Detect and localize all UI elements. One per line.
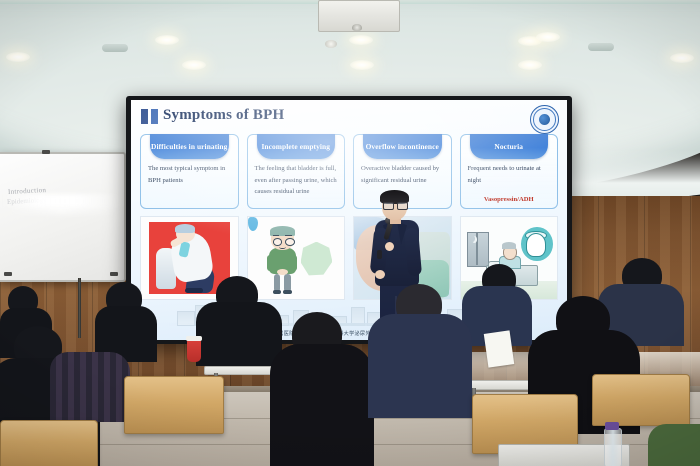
figure-hair — [502, 242, 516, 249]
whiteboard-glare — [2, 206, 122, 214]
downlight-icon — [6, 52, 30, 62]
presentation-clicker-icon — [377, 250, 382, 259]
presenter-hand — [385, 242, 394, 251]
whiteboard: Introduction Epidemiology — [0, 152, 126, 282]
figure-leg — [274, 274, 281, 292]
card-header: Nocturia — [470, 134, 549, 159]
ceiling-vent-icon — [588, 43, 614, 51]
glasses-icon — [285, 238, 295, 246]
downlight-icon — [182, 60, 206, 70]
downlight-icon — [536, 32, 560, 42]
cup-lid — [186, 336, 202, 341]
seal-core — [539, 114, 550, 125]
ceiling-vent-icon — [102, 44, 128, 52]
figure-arm — [291, 255, 297, 271]
bottle-cap — [605, 422, 619, 430]
symptom-card: Incomplete emptying The feeling that bla… — [247, 134, 346, 209]
figure-leg — [284, 274, 291, 292]
downlight-icon — [155, 35, 179, 45]
card-heading-text: Difficulties in urinating — [151, 142, 227, 151]
card-heading-text: Overflow incontinence — [366, 142, 439, 151]
smoke-detector-icon — [325, 40, 337, 48]
figure-brow — [285, 235, 292, 236]
audience-arm — [648, 424, 700, 466]
title-accent-bars — [141, 109, 158, 124]
notebook-paper — [484, 330, 514, 367]
window-bar — [476, 232, 477, 265]
downlight-icon — [518, 60, 542, 70]
card-body-text: Overactive bladder caused by significant… — [361, 163, 445, 186]
downlight-icon — [349, 35, 373, 45]
card-body-text: The feeling that bladder is full, even a… — [255, 163, 339, 198]
downlight-icon — [350, 60, 374, 70]
whiteboard-stand — [78, 278, 81, 338]
accent-bar — [151, 109, 158, 124]
green-blob — [301, 242, 333, 276]
figure-shoe — [185, 288, 202, 294]
audience-body — [196, 302, 282, 366]
slide-title: Symptoms of BPH — [163, 107, 284, 124]
figure-shoe — [283, 290, 292, 294]
university-hospital-seal-icon — [530, 105, 559, 134]
coffee-cup — [187, 340, 201, 362]
presenter-hand — [375, 270, 385, 279]
water-bottle — [604, 428, 622, 466]
figure-hair — [175, 224, 195, 233]
elderly-man-water-drop-illustration — [247, 216, 346, 300]
accent-bar — [141, 109, 148, 124]
downlight-icon — [670, 53, 694, 63]
card-heading-text: Nocturia — [494, 142, 523, 151]
card-header: Incomplete emptying — [257, 134, 336, 159]
moon-icon — [470, 235, 475, 242]
whiteboard-clip — [4, 272, 12, 276]
figure-mouth — [279, 245, 286, 249]
symptom-card: Difficulties in urinating The most typic… — [140, 134, 239, 209]
projector-lens-icon — [352, 24, 362, 31]
card-heading-text: Incomplete emptying — [261, 142, 330, 151]
lecture-hall-photo: Introduction Epidemiology Symptoms of BP… — [0, 0, 700, 466]
lecture-chair — [592, 374, 690, 426]
audience-body-hoodie — [368, 314, 472, 418]
figure-shoe — [273, 290, 282, 294]
card-header: Difficulties in urinating — [150, 134, 229, 159]
symptom-cards: Difficulties in urinating The most typic… — [140, 134, 558, 209]
card-body-text: The most typical symptom in BPH patients — [148, 163, 232, 186]
card-body-text: Frequent needs to urinate at night — [468, 163, 552, 186]
toilet-icon — [526, 233, 546, 256]
presenter-arm — [404, 227, 422, 276]
glasses-icon — [383, 202, 406, 208]
audience-body-hijab — [270, 344, 374, 466]
whiteboard-clip — [110, 272, 118, 276]
card-header: Overflow incontinence — [363, 134, 442, 159]
audience-body-plaid — [50, 352, 130, 422]
figure-brow — [273, 235, 280, 236]
figure-arm — [267, 255, 273, 271]
symptom-card: Nocturia Frequent needs to urinate at ni… — [460, 134, 559, 209]
lecture-chair — [124, 376, 224, 434]
card-note-text: Vasopressin/ADH — [461, 196, 558, 203]
lecture-chair — [0, 420, 98, 466]
whiteboard-clip — [42, 150, 50, 154]
